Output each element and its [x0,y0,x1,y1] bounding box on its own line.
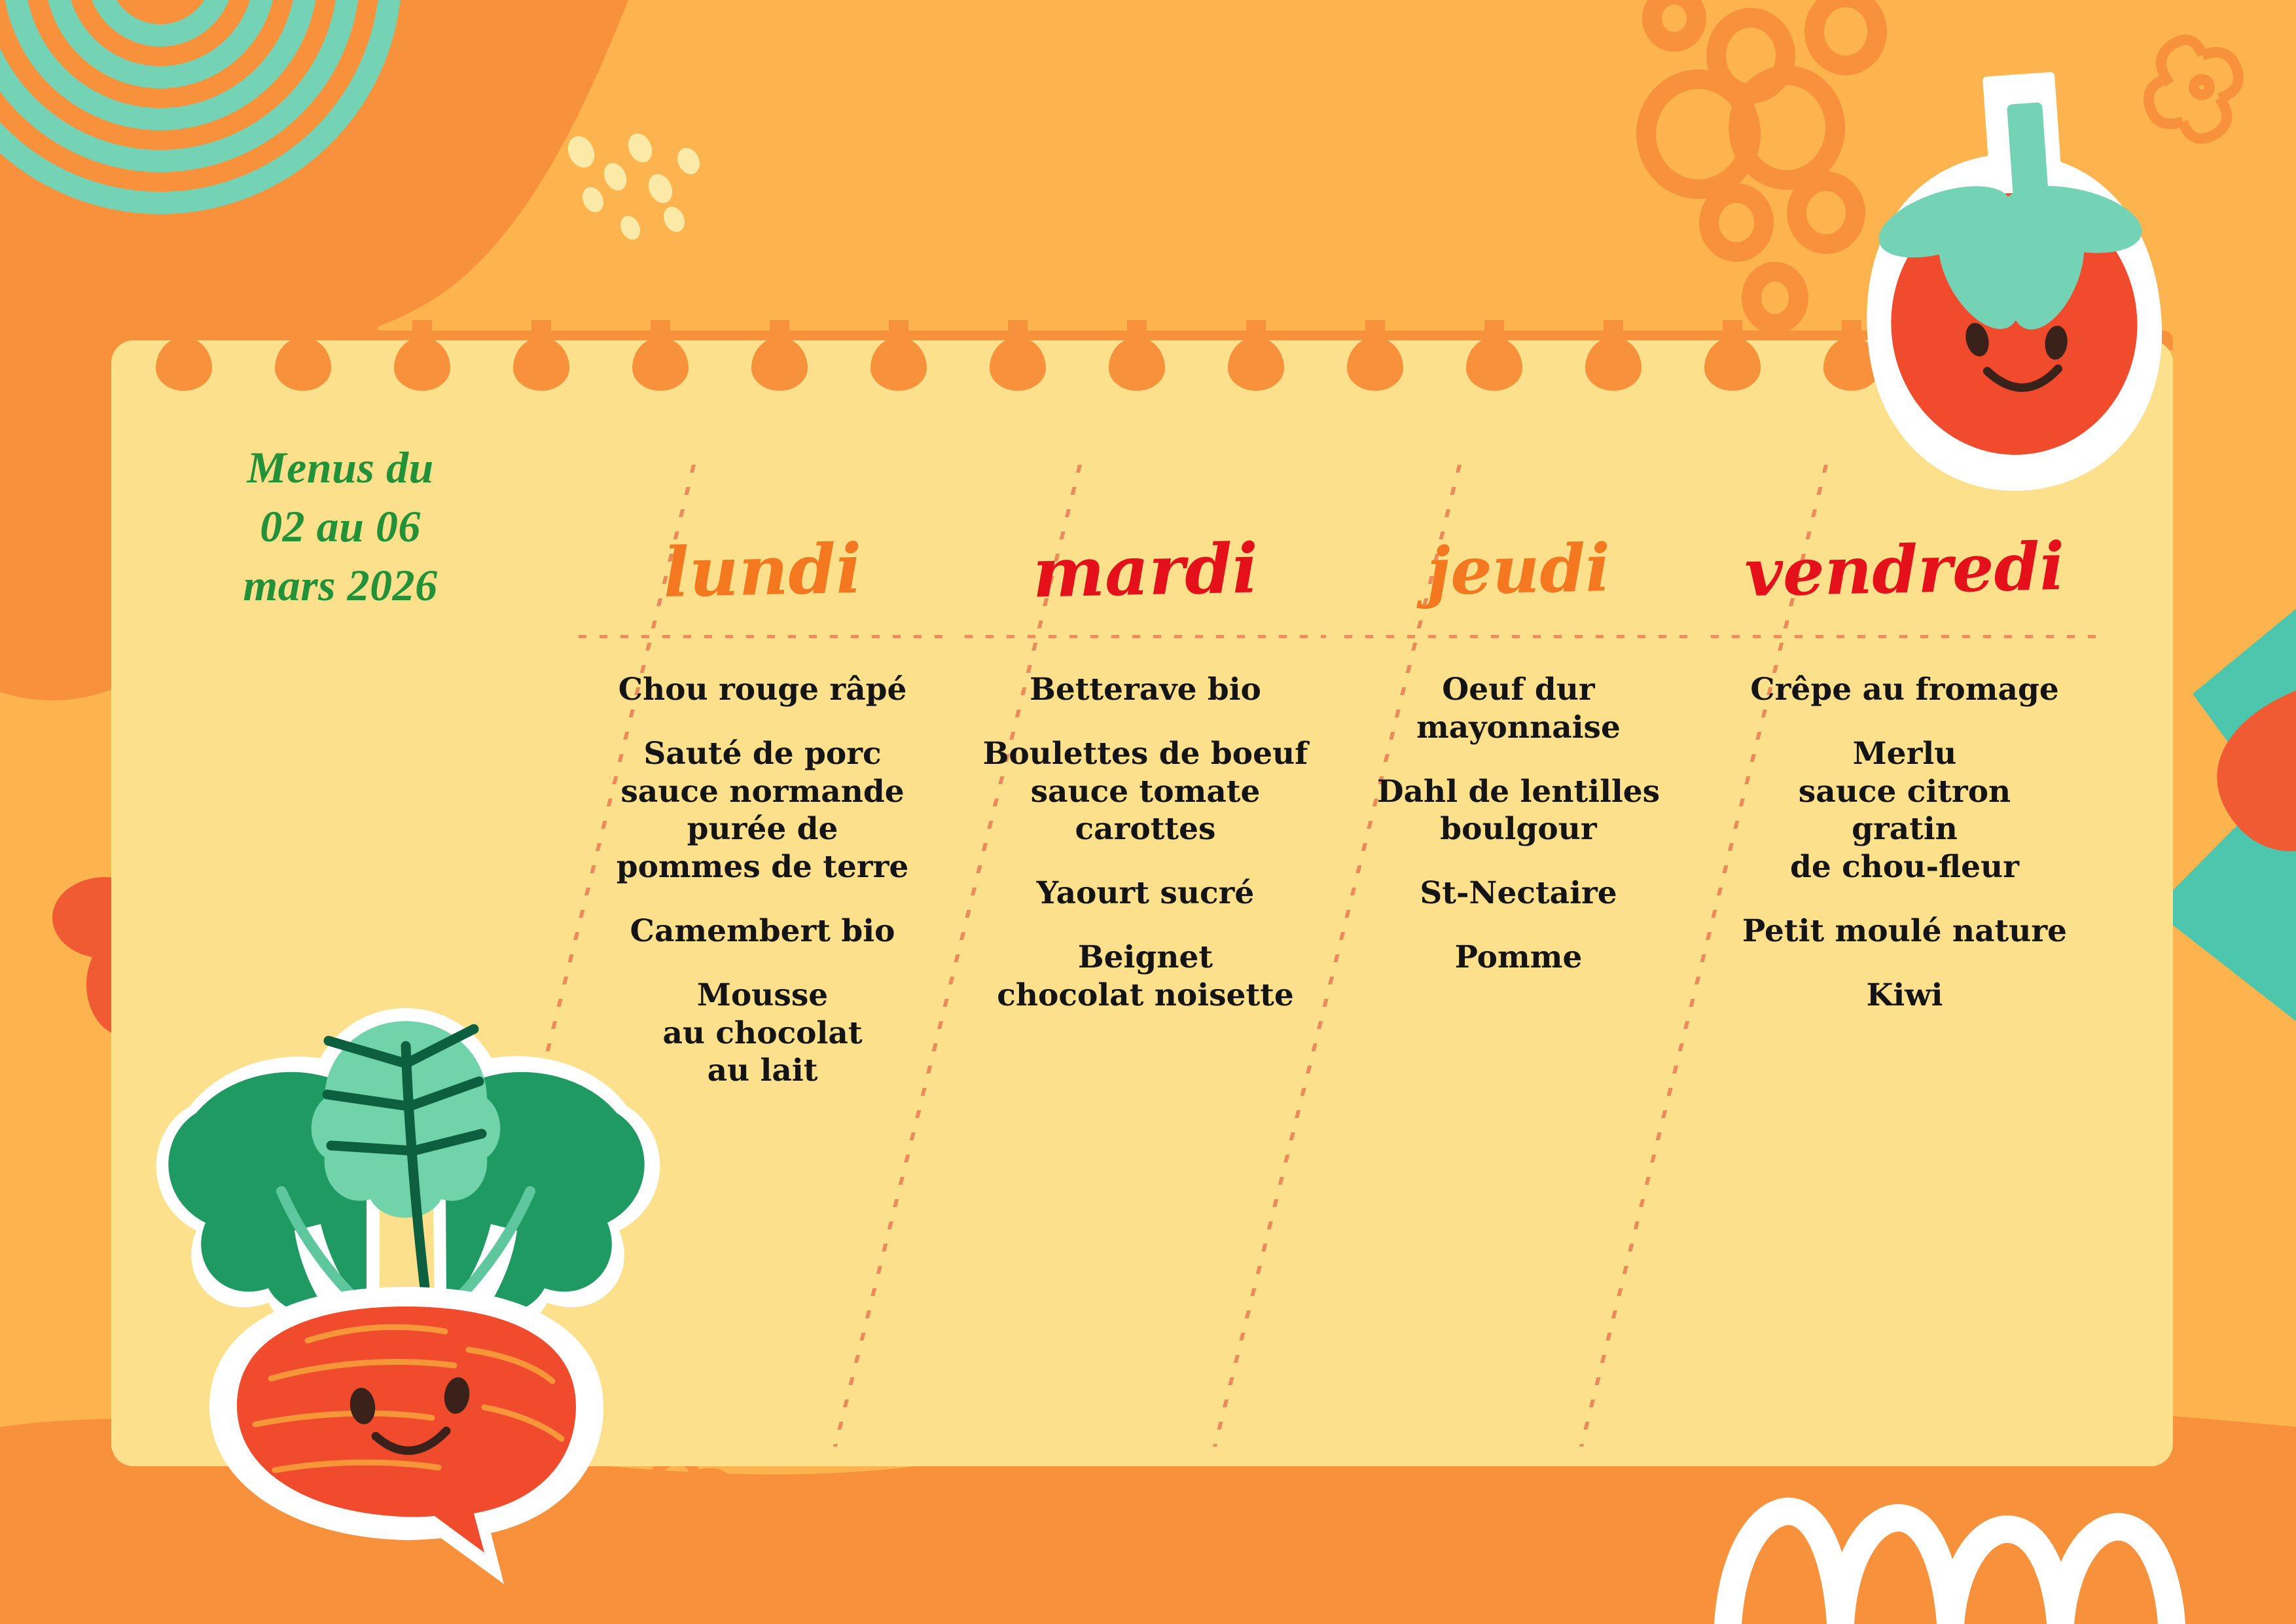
title-line-1: Menus du [111,439,569,497]
menu-line: Kiwi [1707,977,2102,1015]
menu-line: St-Nectaire [1340,875,1696,912]
menu-line: Dahl de lentilles [1340,773,1696,811]
ring-cluster-top-right [1646,0,1877,324]
menu-line: purée de [575,810,950,848]
menu-item: Petit moulé nature [1707,912,2102,950]
page-title: Menus du 02 au 06 mars 2026 [111,439,569,615]
menu-line: mayonnaise [1340,709,1696,747]
menu-line: Chou rouge râpé [575,671,950,709]
day-heading-jeudi: jeudi [1335,533,1702,606]
menu-line: Boulettes de boeuf [961,735,1330,773]
confetti-dots-top-left [563,130,704,243]
menu-item: Sauté de porc sauce normande purée de po… [575,735,950,886]
menu-line: au lait [575,1052,950,1090]
menu-line: Yaourt sucré [961,875,1330,912]
menu-items-lundi: Chou rouge râpé Sauté de porc sauce norm… [575,671,950,1090]
menu-items-vendredi: Crêpe au fromage Merlu sauce citron grat… [1707,671,2102,1015]
menu-item: Crêpe au fromage [1707,671,2102,709]
menu-item: Chou rouge râpé [575,671,950,709]
menu-item: Boulettes de boeuf sauce tomate carottes [961,735,1330,848]
menu-line: carottes [961,810,1330,848]
menu-item: Mousse au chocolat au lait [575,977,950,1090]
day-heading-lundi: lundi [569,533,956,609]
menu-line: Oeuf dur [1340,671,1696,709]
menu-line: Camembert bio [575,912,950,950]
menu-items-jeudi: Oeuf dur mayonnaise Dahl de lentilles bo… [1340,671,1696,977]
day-heading-mardi: mardi [955,533,1336,609]
title-line-3: mars 2026 [111,556,569,615]
title-line-2: 02 au 06 [111,497,569,556]
menu-line: Merlu [1707,735,2102,773]
menu-line: Betterave bio [961,671,1330,709]
menu-line: gratin [1707,810,2102,848]
menu-item: Dahl de lentilles boulgour [1340,773,1696,849]
flower-top-right [2149,40,2238,139]
header-divider [579,635,946,638]
day-column-vendredi: vendredi Crêpe au fromage Merlu sauce ci… [1702,340,2108,1466]
day-column-lundi: lundi Chou rouge râpé Sauté de porc sauc… [569,340,956,1466]
menu-line: boulgour [1340,810,1696,848]
menu-line: Beignet [961,939,1330,977]
menu-line: Mousse [575,977,950,1015]
header-divider [965,635,1326,638]
header-divider [1711,635,2098,638]
menu-line: Petit moulé nature [1707,912,2102,950]
menu-line: de chou-fleur [1707,848,2102,886]
menu-line: sauce normande [575,773,950,811]
menu-item: Beignet chocolat noisette [961,939,1330,1015]
menu-item: Betterave bio [961,671,1330,709]
menu-item: Yaourt sucré [961,875,1330,912]
menu-grid: Menus du 02 au 06 mars 2026 lundi Chou r… [111,340,2173,1466]
menu-item: Camembert bio [575,912,950,950]
diagonal-bands-right [2153,609,2296,1218]
menu-line: Pomme [1340,939,1696,977]
day-column-mardi: mardi Betterave bio Boulettes de boeuf s… [956,340,1335,1466]
menu-line: chocolat noisette [961,977,1330,1015]
day-heading-vendredi: vendredi [1701,533,2108,607]
menu-item: St-Nectaire [1340,875,1696,912]
menu-item: Kiwi [1707,977,2102,1015]
menu-item: Merlu sauce citron gratin de chou-fleur [1707,735,2102,886]
title-column: Menus du 02 au 06 mars 2026 [111,340,569,1466]
flower-bottom-left [640,1460,734,1564]
menu-line: pommes de terre [575,848,950,886]
menu-line: sauce citron [1707,773,2102,811]
menu-item: Oeuf dur mayonnaise [1340,671,1696,747]
concentric-arcs-top-left [0,0,391,203]
menu-item: Pomme [1340,939,1696,977]
menu-line: sauce tomate [961,773,1330,811]
day-column-jeudi: jeudi Oeuf dur mayonnaise Dahl de lentil… [1335,340,1702,1466]
header-divider [1344,635,1693,638]
menu-line: au chocolat [575,1015,950,1053]
menu-line: Crêpe au fromage [1707,671,2102,709]
menu-line: Sauté de porc [575,735,950,773]
menu-items-mardi: Betterave bio Boulettes de boeuf sauce t… [961,671,1330,1015]
white-squiggle-bottom-right [1728,1511,2172,1624]
